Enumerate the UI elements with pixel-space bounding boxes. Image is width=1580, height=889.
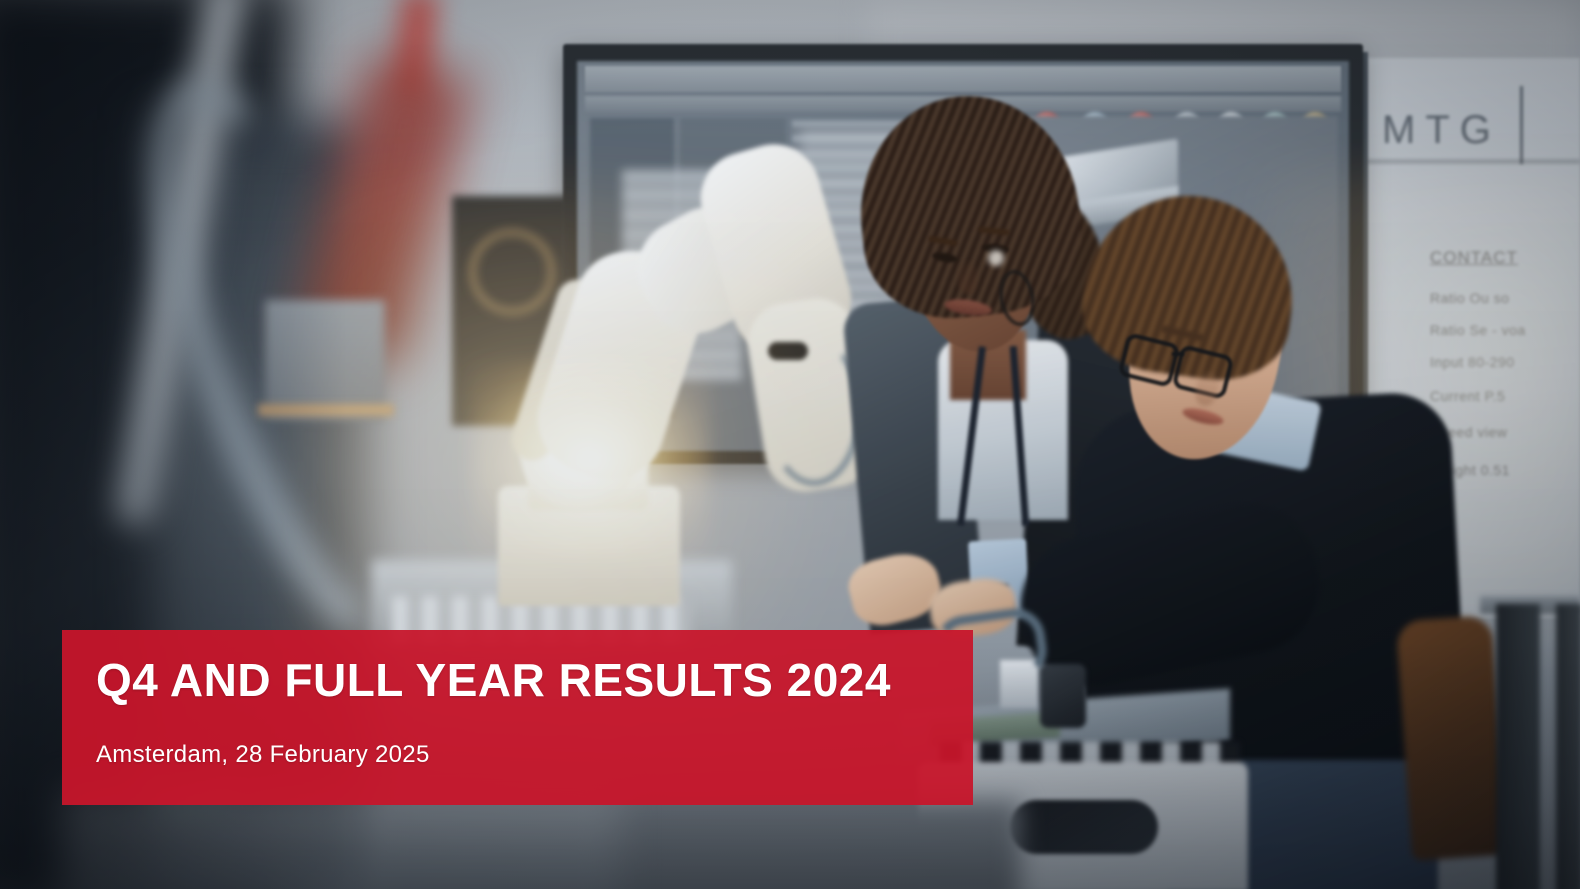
lens-flare-core xyxy=(470,360,710,560)
title-banner-content: Q4 AND FULL YEAR RESULTS 2024 Amsterdam,… xyxy=(62,630,973,805)
whiteboard-heading: MTG xyxy=(1382,108,1501,153)
slide-title: Q4 AND FULL YEAR RESULTS 2024 xyxy=(96,656,973,704)
assembly-cylinder xyxy=(1040,664,1086,728)
wooden-chair xyxy=(1396,615,1509,861)
woman-nose xyxy=(958,262,978,294)
presentation-slide: MTG CONTACT Ratio Ou so Ratio Se - voa I… xyxy=(0,0,1580,889)
machine-slot xyxy=(1010,800,1158,854)
whiteboard-divider xyxy=(1520,86,1523,164)
whiteboard-divider-2 xyxy=(1366,160,1580,163)
side-table-leg xyxy=(1496,604,1540,889)
man-glasses-bridge xyxy=(1172,352,1184,356)
woman-cheek-highlight xyxy=(988,250,1004,266)
cad-menu-bar xyxy=(585,66,1341,92)
slide-subtitle: Amsterdam, 28 February 2025 xyxy=(96,741,973,769)
side-table-leg-2 xyxy=(1556,604,1580,889)
